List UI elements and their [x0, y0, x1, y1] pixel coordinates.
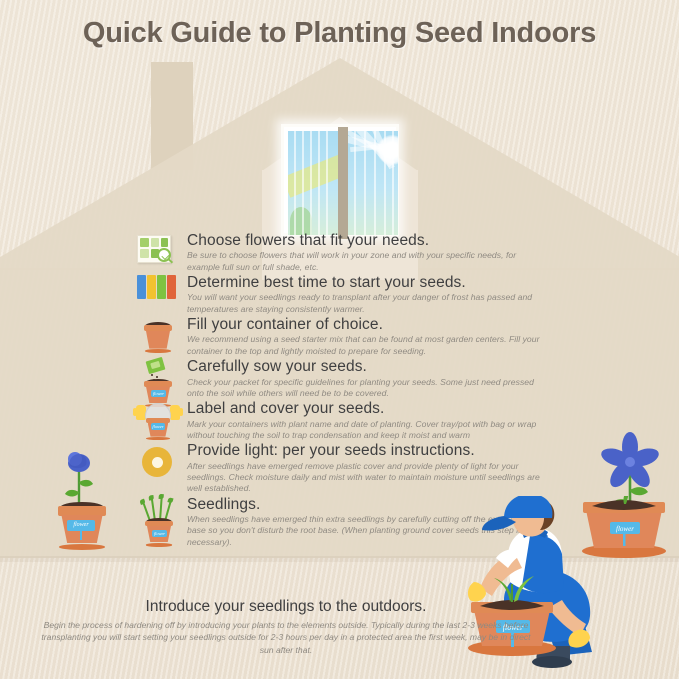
step-heading: Provide light: per your seeds instructio…: [187, 442, 545, 459]
blind-slat: [310, 131, 312, 235]
infographic-poster: Quick Guide to Planting Seed Indoors Cho…: [0, 0, 679, 679]
seed-packet: [167, 275, 176, 299]
magnifier-check-icon: [157, 248, 171, 262]
blind-slat: [392, 131, 394, 235]
step-body: After seedlings have emerged remove plas…: [187, 461, 545, 495]
plant-label-tag: flower: [151, 390, 166, 397]
step-heading: Choose flowers that fit your needs.: [187, 232, 545, 249]
step-body: You will want your seedlings ready to tr…: [187, 292, 545, 315]
seed-packet: [147, 275, 156, 299]
step-body: Be sure to choose flowers that will work…: [187, 250, 545, 273]
page-title: Quick Guide to Planting Seed Indoors: [0, 17, 679, 50]
seed-packets-icon: [135, 275, 181, 317]
left-flower-plant: flower: [46, 418, 118, 550]
plant-label-tag: flower: [151, 423, 165, 430]
sun-ring: [142, 447, 172, 477]
step-item: Provide light: per your seeds instructio…: [135, 442, 545, 494]
step-body: Mark your containers with plant name and…: [187, 419, 545, 442]
blind-slat: [294, 131, 296, 235]
step-item: Determine best time to start your seeds.…: [135, 274, 545, 315]
terracotta-pot: flower: [146, 418, 170, 440]
seed-packet-pouring: [146, 357, 166, 374]
glove-right-icon: [170, 405, 180, 420]
blind-slat: [302, 131, 304, 235]
blind-slat: [384, 131, 386, 235]
step-heading: Carefully sow your seeds.: [187, 358, 545, 375]
footer-heading: Introduce your seedlings to the outdoors…: [36, 598, 536, 616]
seed-packet: [157, 275, 166, 299]
plant-label-tag: flower: [152, 530, 167, 537]
blind-slat: [364, 131, 366, 235]
blind-slat: [318, 131, 320, 235]
step-item: flower Carefully sow your seeds. Check y…: [135, 358, 545, 399]
background-pot: flower: [582, 496, 666, 558]
terracotta-pot: flower: [145, 521, 173, 547]
footer-section: Introduce your seedlings to the outdoors…: [36, 598, 536, 656]
step-item: Fill your container of choice. We recomm…: [135, 316, 545, 357]
blind-slat: [374, 131, 376, 235]
seed-packet: [137, 275, 146, 299]
step-heading: Label and cover your seeds.: [187, 400, 545, 417]
sunlit-window-icon: [281, 124, 399, 236]
plant-label-tag: flower: [67, 520, 95, 531]
seedlings-pot-icon: flower: [135, 497, 181, 547]
gloves-cover-pot-icon: flower: [135, 401, 181, 443]
window-pane-left: [288, 131, 338, 235]
terracotta-pot: flower: [58, 506, 106, 550]
filled-pot-icon: [135, 317, 181, 359]
blind-slat: [326, 131, 328, 235]
step-body: We recommend using a seed starter mix th…: [187, 334, 545, 357]
step-heading: Determine best time to start your seeds.: [187, 274, 545, 291]
window-pane-right: [348, 131, 398, 235]
step-body: Check your packet for specific guideline…: [187, 377, 545, 400]
step-item: Choose flowers that fit your needs. Be s…: [135, 232, 545, 273]
blind-slat: [354, 131, 356, 235]
footer-body: Begin the process of hardening off by in…: [36, 619, 536, 656]
step-item: flower Label and cover your seeds. Mark …: [135, 400, 545, 441]
svg-text:flower: flower: [616, 525, 634, 533]
step-heading: Fill your container of choice.: [187, 316, 545, 333]
sun-light-icon: [135, 443, 181, 485]
terracotta-pot: [144, 325, 172, 353]
window-mullion: [338, 127, 348, 239]
seed-catalog-icon: [135, 233, 181, 275]
